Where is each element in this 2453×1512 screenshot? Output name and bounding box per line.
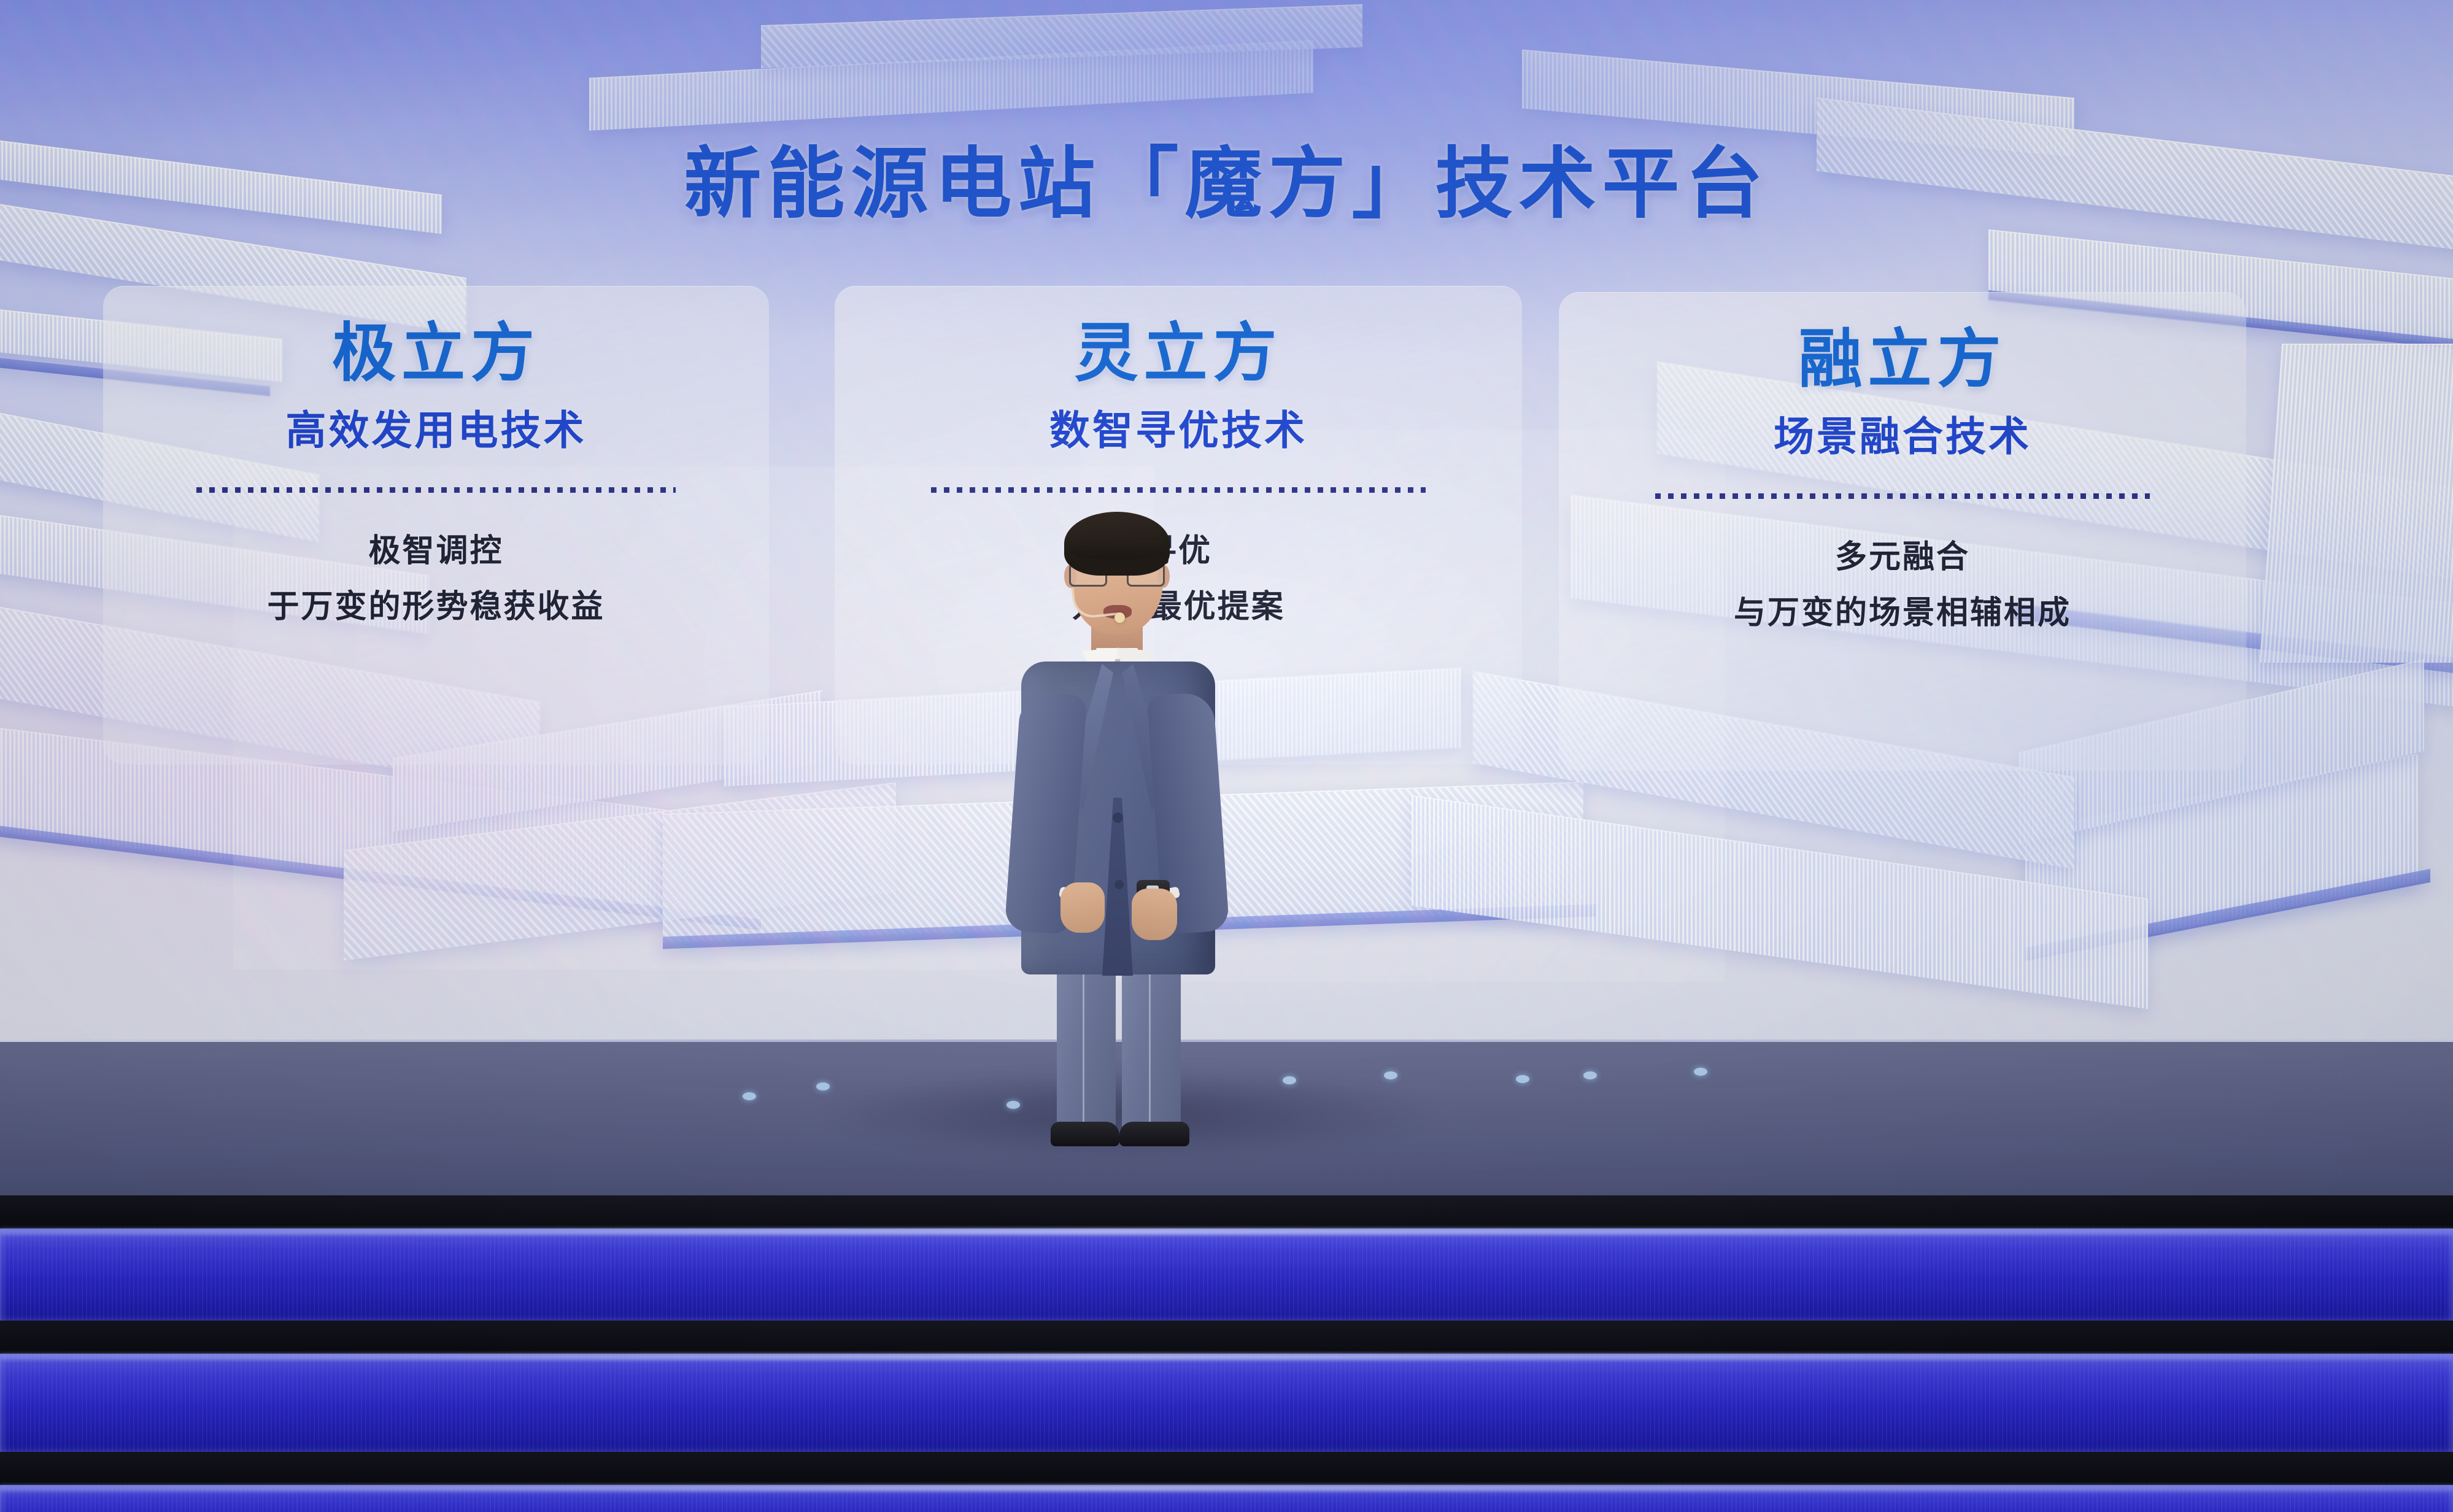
presenter-hand-right — [1132, 889, 1177, 940]
card-body-line-1: 极智调控 — [103, 527, 769, 576]
card-subtitle: 高效发用电技术 — [103, 408, 769, 453]
card-divider — [931, 487, 1426, 493]
stage-step-1 — [0, 1195, 2453, 1321]
presenter-hair — [1064, 512, 1170, 576]
presenter-figure — [994, 509, 1240, 1141]
stage-step-2 — [0, 1321, 2453, 1452]
step-tread-lit — [0, 1354, 2453, 1452]
trouser-crease-left — [1083, 968, 1084, 1124]
card-divider — [196, 487, 676, 493]
step-tread-lit — [0, 1485, 2453, 1512]
card-body-line-2: 与万变的场景相辅相成 — [1559, 589, 2246, 638]
step-riser — [0, 1452, 2453, 1485]
card-body: 极智调控 于万变的形势稳获收益 — [103, 527, 769, 631]
presenter-hand-left — [1060, 882, 1105, 933]
headset-microphone-capsule — [1114, 612, 1125, 623]
card-divider — [1655, 493, 2150, 499]
card-title: 融立方 — [1559, 326, 2246, 393]
suit-button-bottom — [1114, 880, 1124, 889]
presenter-legs — [1053, 963, 1183, 1129]
stage-step-3 — [0, 1452, 2453, 1512]
technology-card-jilifang: 极立方 高效发用电技术 极智调控 于万变的形势稳获收益 — [103, 286, 769, 765]
card-body-line-1: 多元融合 — [1559, 533, 2246, 582]
card-title: 极立方 — [103, 320, 769, 387]
presenter-leg-right — [1122, 963, 1181, 1129]
presenter-leg-left — [1057, 963, 1116, 1129]
presenter-shoe-right — [1119, 1122, 1189, 1146]
card-body-line-2: 于万变的形势稳获收益 — [103, 583, 769, 631]
card-subtitle: 场景融合技术 — [1559, 414, 2246, 459]
technology-card-ronglifang: 融立方 场景融合技术 多元融合 与万变的场景相辅相成 — [1559, 292, 2246, 771]
stage-presentation-photo: 新能源电站「魔方」技术平台 极立方 高效发用电技术 极智调控 于万变的形势稳获收… — [0, 0, 2453, 1512]
headset-microphone-boom — [1071, 583, 1118, 619]
card-subtitle: 数智寻优技术 — [835, 408, 1522, 453]
trouser-crease-right — [1149, 968, 1151, 1124]
card-title: 灵立方 — [835, 320, 1522, 387]
step-tread-lit — [0, 1228, 2453, 1321]
step-riser — [0, 1321, 2453, 1354]
card-body: 多元融合 与万变的场景相辅相成 — [1559, 533, 2246, 638]
suit-button-top — [1113, 812, 1123, 823]
step-riser — [0, 1195, 2453, 1228]
slide-title: 新能源电站「魔方」技术平台 — [0, 121, 2453, 233]
presenter-shoe-left — [1051, 1122, 1119, 1146]
